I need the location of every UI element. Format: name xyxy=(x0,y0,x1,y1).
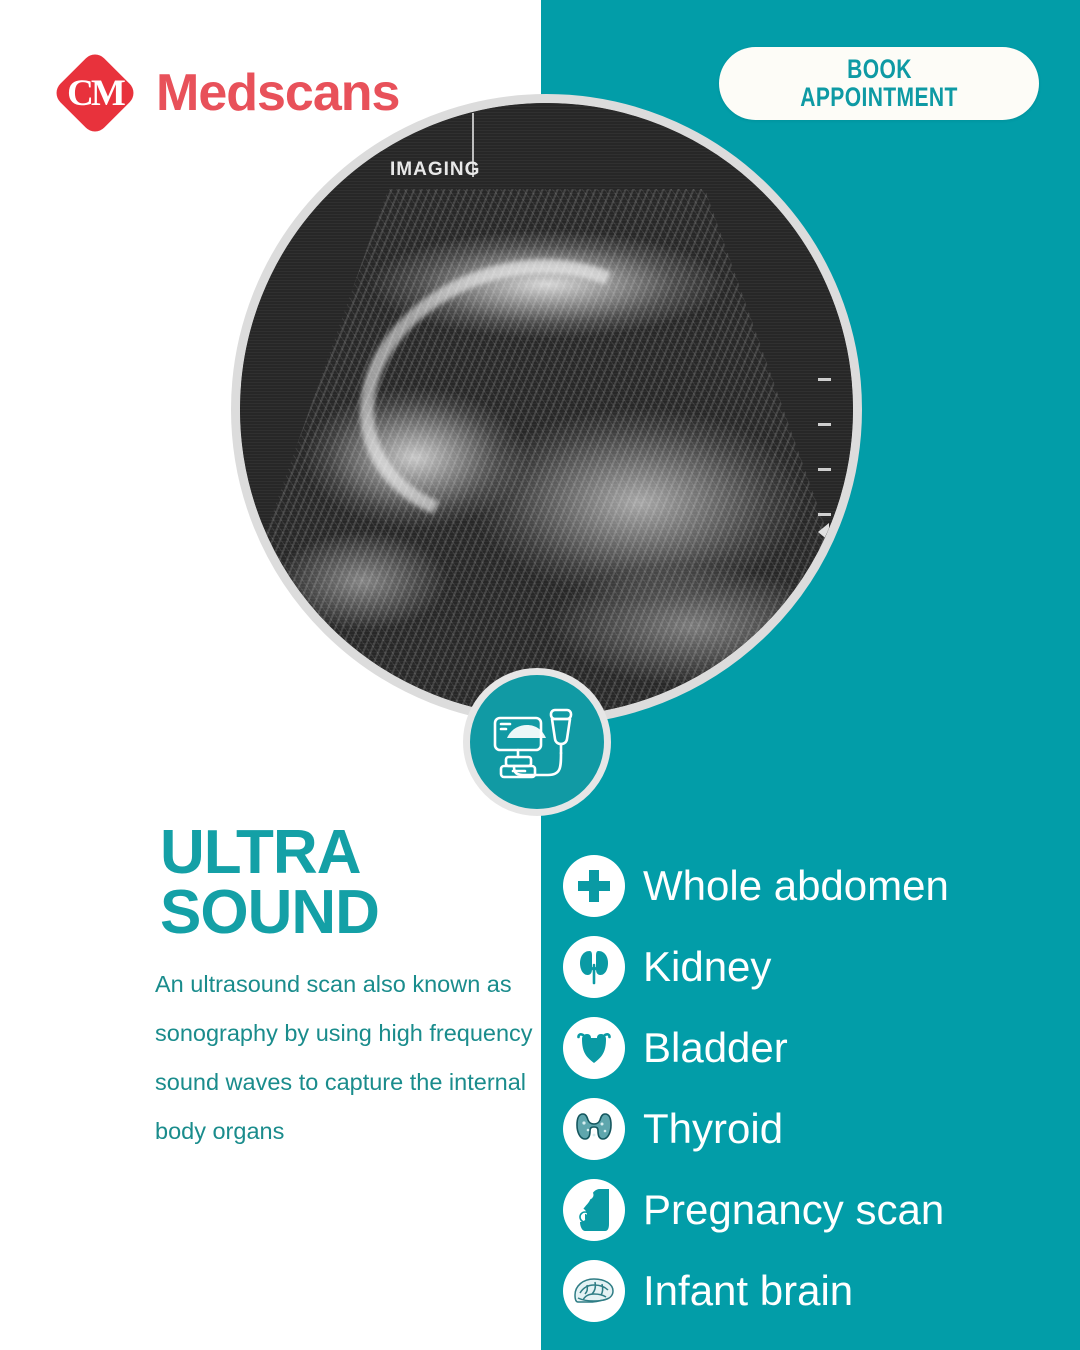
pregnant-woman-icon xyxy=(563,1179,625,1241)
service-label: Whole abdomen xyxy=(643,865,949,907)
headline-line-2: SOUND xyxy=(160,883,540,943)
service-label: Kidney xyxy=(643,946,771,988)
page-title: ULTRA SOUND xyxy=(160,823,540,943)
service-label: Thyroid xyxy=(643,1108,783,1150)
depth-scale-ticks xyxy=(809,378,831,678)
cta-line-1: BOOK xyxy=(847,56,912,84)
headline-line-1: ULTRA xyxy=(160,823,540,883)
service-label: Infant brain xyxy=(643,1270,853,1312)
ultrasound-topbar: IMAGING 11:5 xyxy=(240,139,853,183)
ultrasound-machine-badge xyxy=(463,668,611,816)
brand-logo[interactable]: CM Medscans xyxy=(52,50,399,136)
list-item[interactable]: Bladder xyxy=(563,1007,1063,1088)
kidney-icon xyxy=(563,936,625,998)
focus-caret-icon xyxy=(818,523,829,541)
bladder-icon xyxy=(563,1017,625,1079)
ultrasound-screen: IMAGING 11:5 xyxy=(240,103,853,716)
service-label: Pregnancy scan xyxy=(643,1189,944,1231)
poster-canvas: CM Medscans BOOK APPOINTMENT IMAGING 11:… xyxy=(0,0,1080,1350)
description-paragraph: An ultrasound scan also known as sonogra… xyxy=(155,960,535,1156)
service-label: Bladder xyxy=(643,1027,788,1069)
brain-icon xyxy=(563,1260,625,1322)
list-item[interactable]: Thyroid xyxy=(563,1088,1063,1169)
brand-name-text: Medscans xyxy=(156,67,399,119)
monogram-text: CM xyxy=(52,50,138,136)
list-item[interactable]: Whole abdomen xyxy=(563,845,1063,926)
list-item[interactable]: Pregnancy scan xyxy=(563,1169,1063,1250)
thyroid-icon xyxy=(563,1098,625,1160)
machine-label-text: IMAGING xyxy=(390,159,480,181)
book-appointment-button[interactable]: BOOK APPOINTMENT xyxy=(719,47,1039,120)
services-list: Whole abdomen Kidney Bladder xyxy=(563,845,1063,1331)
medical-cross-icon xyxy=(563,855,625,917)
ultrasound-machine-probe-icon xyxy=(489,694,585,790)
list-item[interactable]: Kidney xyxy=(563,926,1063,1007)
list-item[interactable]: Infant brain xyxy=(563,1250,1063,1331)
cta-line-2: APPOINTMENT xyxy=(800,84,958,112)
ultrasound-photo-circle: IMAGING 11:5 xyxy=(231,94,862,725)
diamond-logo-icon: CM xyxy=(52,50,138,136)
